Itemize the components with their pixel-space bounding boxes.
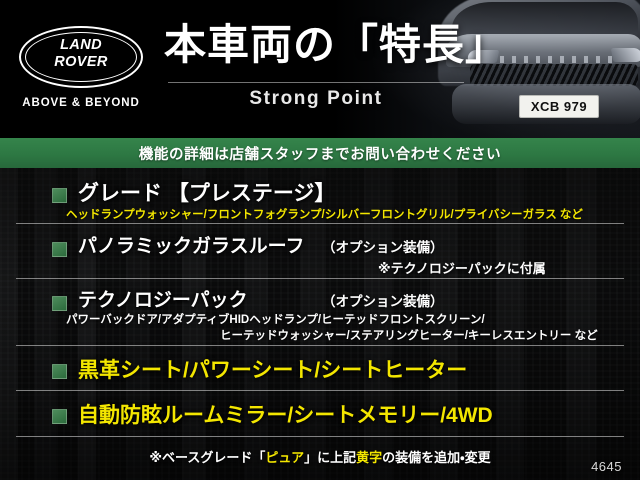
slide-canvas: XCB 979 LAND ROVER ABOVE & BEYOND 本車両の「特… xyxy=(0,0,640,480)
vehicle-photo-headlamp-right xyxy=(611,48,640,62)
feature-subtext: パワーバックドア/アダプティブHIDヘッドランプ/ヒーテッドフロントスクリーン/ xyxy=(66,311,485,327)
row-separator xyxy=(16,345,624,346)
feature-title: グレード 【プレステージ】 xyxy=(78,177,335,207)
footer-note: ※ベースグレード「ピュア」に上記黄字の装備を追加・変更 xyxy=(0,447,640,466)
row-separator xyxy=(16,223,624,224)
contact-banner: 機能の詳細は店舗スタッフまでお問い合わせください xyxy=(0,138,640,168)
bullet-square-icon xyxy=(52,188,67,203)
feature-title: 黒革シート/パワーシート/シートヒーター xyxy=(78,354,467,384)
logo-word-land: LAND xyxy=(21,37,141,54)
page-title: 本車両の「特長」 xyxy=(164,22,508,68)
feature-title: 自動防眩ルームミラー/シートメモリー/4WD xyxy=(78,399,493,429)
logo-oval-icon: LAND ROVER xyxy=(19,26,143,88)
logo-tagline: ABOVE & BEYOND xyxy=(14,97,148,109)
row-separator xyxy=(16,278,624,279)
footer-note-part1: ※ベースグレード「 xyxy=(149,450,265,465)
title-divider xyxy=(168,82,464,83)
bullet-square-icon xyxy=(52,296,67,311)
corner-number: 4645 xyxy=(591,459,622,474)
logo-wordmark: LAND ROVER xyxy=(21,37,141,71)
feature-option-note: （オプション装備） xyxy=(322,236,444,256)
feature-list-section: グレード 【プレステージ】 ヘッドランプウォッシャー/フロントフォグランプ/シル… xyxy=(0,168,640,480)
contact-banner-text: 機能の詳細は店舗スタッフまでお問い合わせください xyxy=(139,143,501,164)
feature-title: パノラミックガラスルーフ xyxy=(78,231,304,258)
bullet-square-icon xyxy=(52,409,67,424)
page-subtitle: Strong Point xyxy=(168,88,464,110)
footer-note-part3: の装備を追加・変更 xyxy=(382,450,490,465)
bullet-square-icon xyxy=(52,364,67,379)
feature-subtext: ヒーテッドウォッシャー/ステアリングヒーター/キーレスエントリー など xyxy=(220,327,598,343)
feature-list: グレード 【プレステージ】 ヘッドランプウォッシャー/フロントフォグランプ/シル… xyxy=(0,168,640,480)
logo-word-rover: ROVER xyxy=(21,54,141,71)
feature-title: テクノロジーパック xyxy=(78,285,248,312)
feature-subtext: ※テクノロジーパックに付属 xyxy=(378,258,546,277)
land-rover-logo: LAND ROVER ABOVE & BEYOND xyxy=(14,26,148,109)
row-separator xyxy=(16,436,624,437)
footer-note-part2: 」に上記 xyxy=(304,450,356,465)
header-banner: XCB 979 LAND ROVER ABOVE & BEYOND 本車両の「特… xyxy=(0,0,640,138)
license-plate: XCB 979 xyxy=(519,95,599,118)
bullet-square-icon xyxy=(52,242,67,257)
footer-note-highlight-pure: ピュア xyxy=(265,450,304,465)
feature-option-note: （オプション装備） xyxy=(322,290,444,310)
row-separator xyxy=(16,390,624,391)
footer-note-highlight-yellow: 黄字 xyxy=(356,450,382,465)
vehicle-photo-badge xyxy=(500,56,620,63)
feature-subtext: ヘッドランプウォッシャー/フロントフォグランプ/シルバーフロントグリル/プライバ… xyxy=(66,206,583,222)
